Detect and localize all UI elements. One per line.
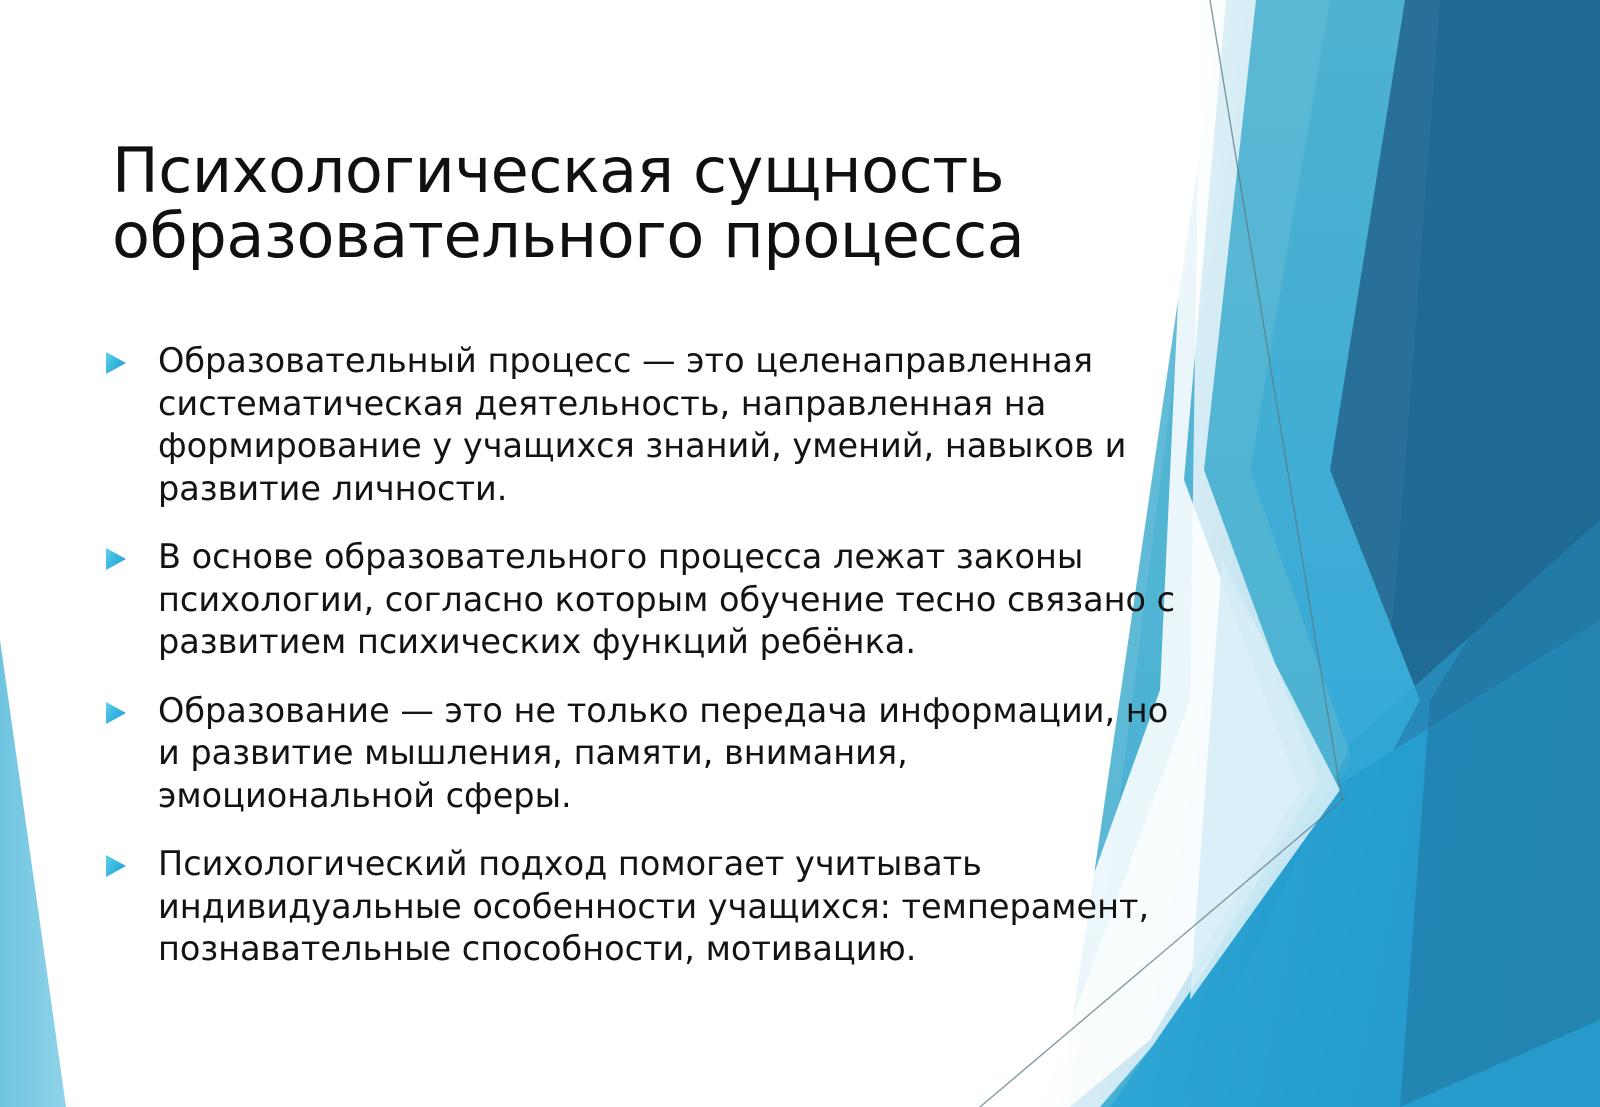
facet-steel-overlay [1400,430,1600,1107]
bullet-list: Образовательный процесс — это целенаправ… [96,340,1186,997]
triangle-right-icon [104,700,128,726]
slide: Психологическая сущность образовательног… [0,0,1600,1107]
slide-title: Психологическая сущность образовательног… [112,138,1172,269]
bullet-text: Образовательный процесс — это целенаправ… [158,340,1186,510]
bullet-text: В основе образовательного процесса лежат… [158,536,1186,664]
bullet-item-1: Образовательный процесс — это целенаправ… [96,340,1186,510]
facet-medium-blue-sweep [1180,520,1600,1107]
bullet-text: Психологический подход помогает учитыват… [158,843,1186,971]
triangle-right-icon [104,350,128,376]
facet-pale-triangle-mid [1190,560,1340,1000]
facet-deep-blue-band [1200,0,1600,1107]
triangle-right-icon [104,546,128,572]
bullet-text: Образование — это не только передача инф… [158,690,1186,818]
bullet-item-3: Образование — это не только передача инф… [96,690,1186,818]
hairline-upper [1210,0,1342,800]
bullet-item-2: В основе образовательного процесса лежат… [96,536,1186,664]
facet-dark-navy-right [1345,0,1600,1107]
slide-content: Психологическая сущность образовательног… [0,0,1210,1107]
triangle-right-icon [104,853,128,879]
bullet-item-4: Психологический подход помогает учитыват… [96,843,1186,971]
